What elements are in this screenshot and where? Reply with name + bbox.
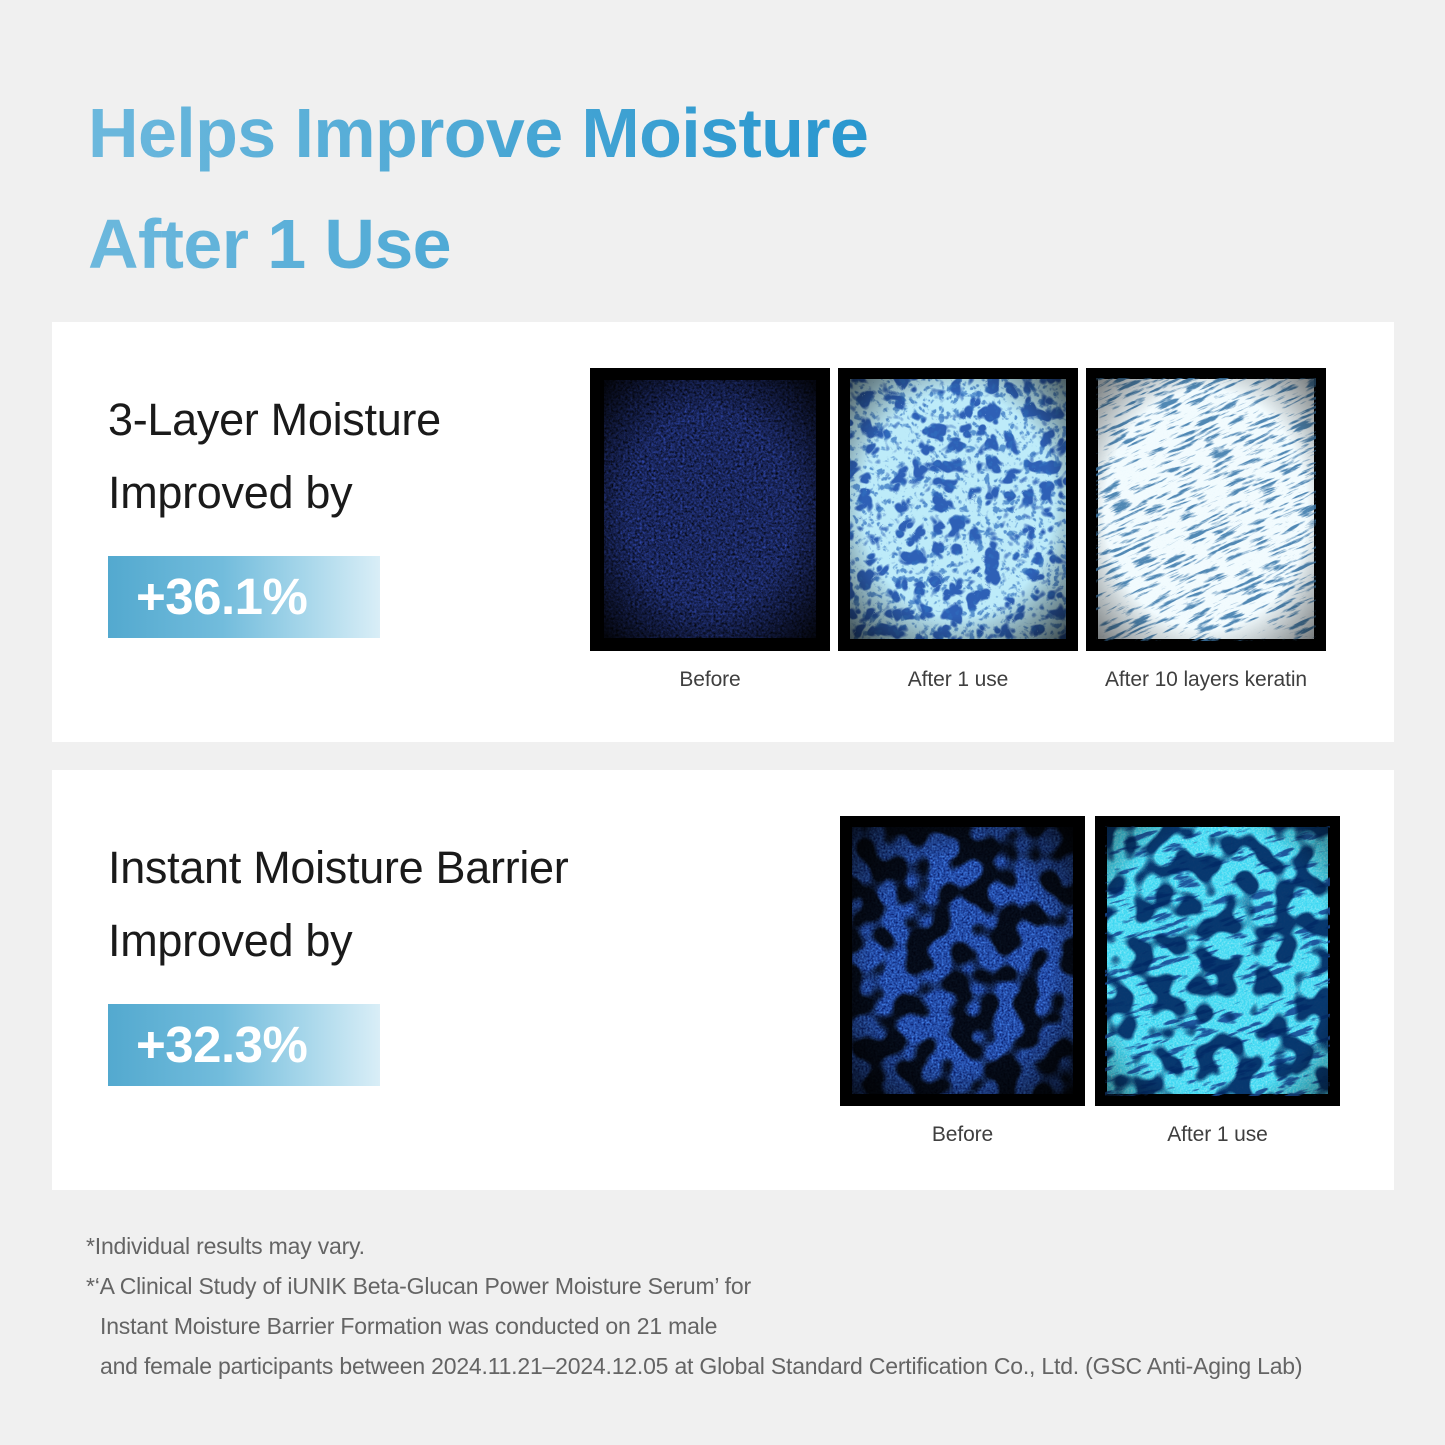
claim-card-1-heading-line-1: 3-Layer Moisture: [108, 384, 578, 457]
claim-card-1-heading-line-2: Improved by: [108, 457, 578, 530]
microscopy-item: After 1 use: [1095, 816, 1340, 1147]
page-title-line-1: Helps Improve Moisture: [88, 78, 1188, 189]
microscopy-image-before-icon: [590, 368, 830, 651]
microscopy-item: After 10 layers keratin: [1086, 368, 1326, 692]
claim-card-1-percentage-badge: +36.1%: [108, 556, 380, 638]
microscopy-image-before-icon: [840, 816, 1085, 1106]
footnote-line-1: *Individual results may vary.: [86, 1226, 1376, 1266]
footnote-line-3: Instant Moisture Barrier Formation was c…: [86, 1306, 1376, 1346]
microscopy-item: Before: [590, 368, 830, 692]
microscopy-caption: Before: [679, 668, 740, 692]
microscopy-caption: After 1 use: [1167, 1123, 1267, 1147]
page-title: Helps Improve Moisture After 1 Use: [88, 78, 1188, 299]
microscopy-caption: After 10 layers keratin: [1105, 668, 1307, 692]
microscopy-caption: Before: [932, 1123, 993, 1147]
microscopy-image-after-10-layers-keratin-icon: [1086, 368, 1326, 651]
claim-card-2-heading: Instant Moisture Barrier Improved by: [108, 832, 578, 978]
page-title-line-2: After 1 Use: [88, 189, 1188, 300]
footnote-line-4: and female participants between 2024.11.…: [86, 1346, 1376, 1386]
microscopy-caption: After 1 use: [908, 668, 1008, 692]
claim-card-2-percentage-badge: +32.3%: [108, 1004, 380, 1086]
claim-card-2-heading-line-1: Instant Moisture Barrier: [108, 832, 578, 905]
claim-card-1-image-row: Before: [590, 368, 1326, 692]
claim-card-1-text-block: 3-Layer Moisture Improved by +36.1%: [108, 384, 578, 638]
claim-card-1-percentage-value: +36.1%: [108, 556, 380, 638]
claim-card-2-percentage-value: +32.3%: [108, 1004, 380, 1086]
product-claim-page: Helps Improve Moisture After 1 Use 3-Lay…: [0, 0, 1445, 1445]
microscopy-item: After 1 use: [838, 368, 1078, 692]
microscopy-image-after-1-use-icon: [838, 368, 1078, 651]
claim-card-2-image-row: Before: [840, 816, 1340, 1147]
claim-card-2-heading-line-2: Improved by: [108, 905, 578, 978]
claim-card-2-text-block: Instant Moisture Barrier Improved by +32…: [108, 832, 578, 1086]
microscopy-image-after-1-use-icon: [1095, 816, 1340, 1106]
claim-card-instant-moisture-barrier: Instant Moisture Barrier Improved by +32…: [52, 770, 1394, 1190]
footnotes: *Individual results may vary. *‘A Clinic…: [86, 1226, 1376, 1386]
claim-card-3-layer-moisture: 3-Layer Moisture Improved by +36.1%: [52, 322, 1394, 742]
claim-card-1-heading: 3-Layer Moisture Improved by: [108, 384, 578, 530]
footnote-line-2: *‘A Clinical Study of iUNIK Beta-Glucan …: [86, 1266, 1376, 1306]
microscopy-item: Before: [840, 816, 1085, 1147]
